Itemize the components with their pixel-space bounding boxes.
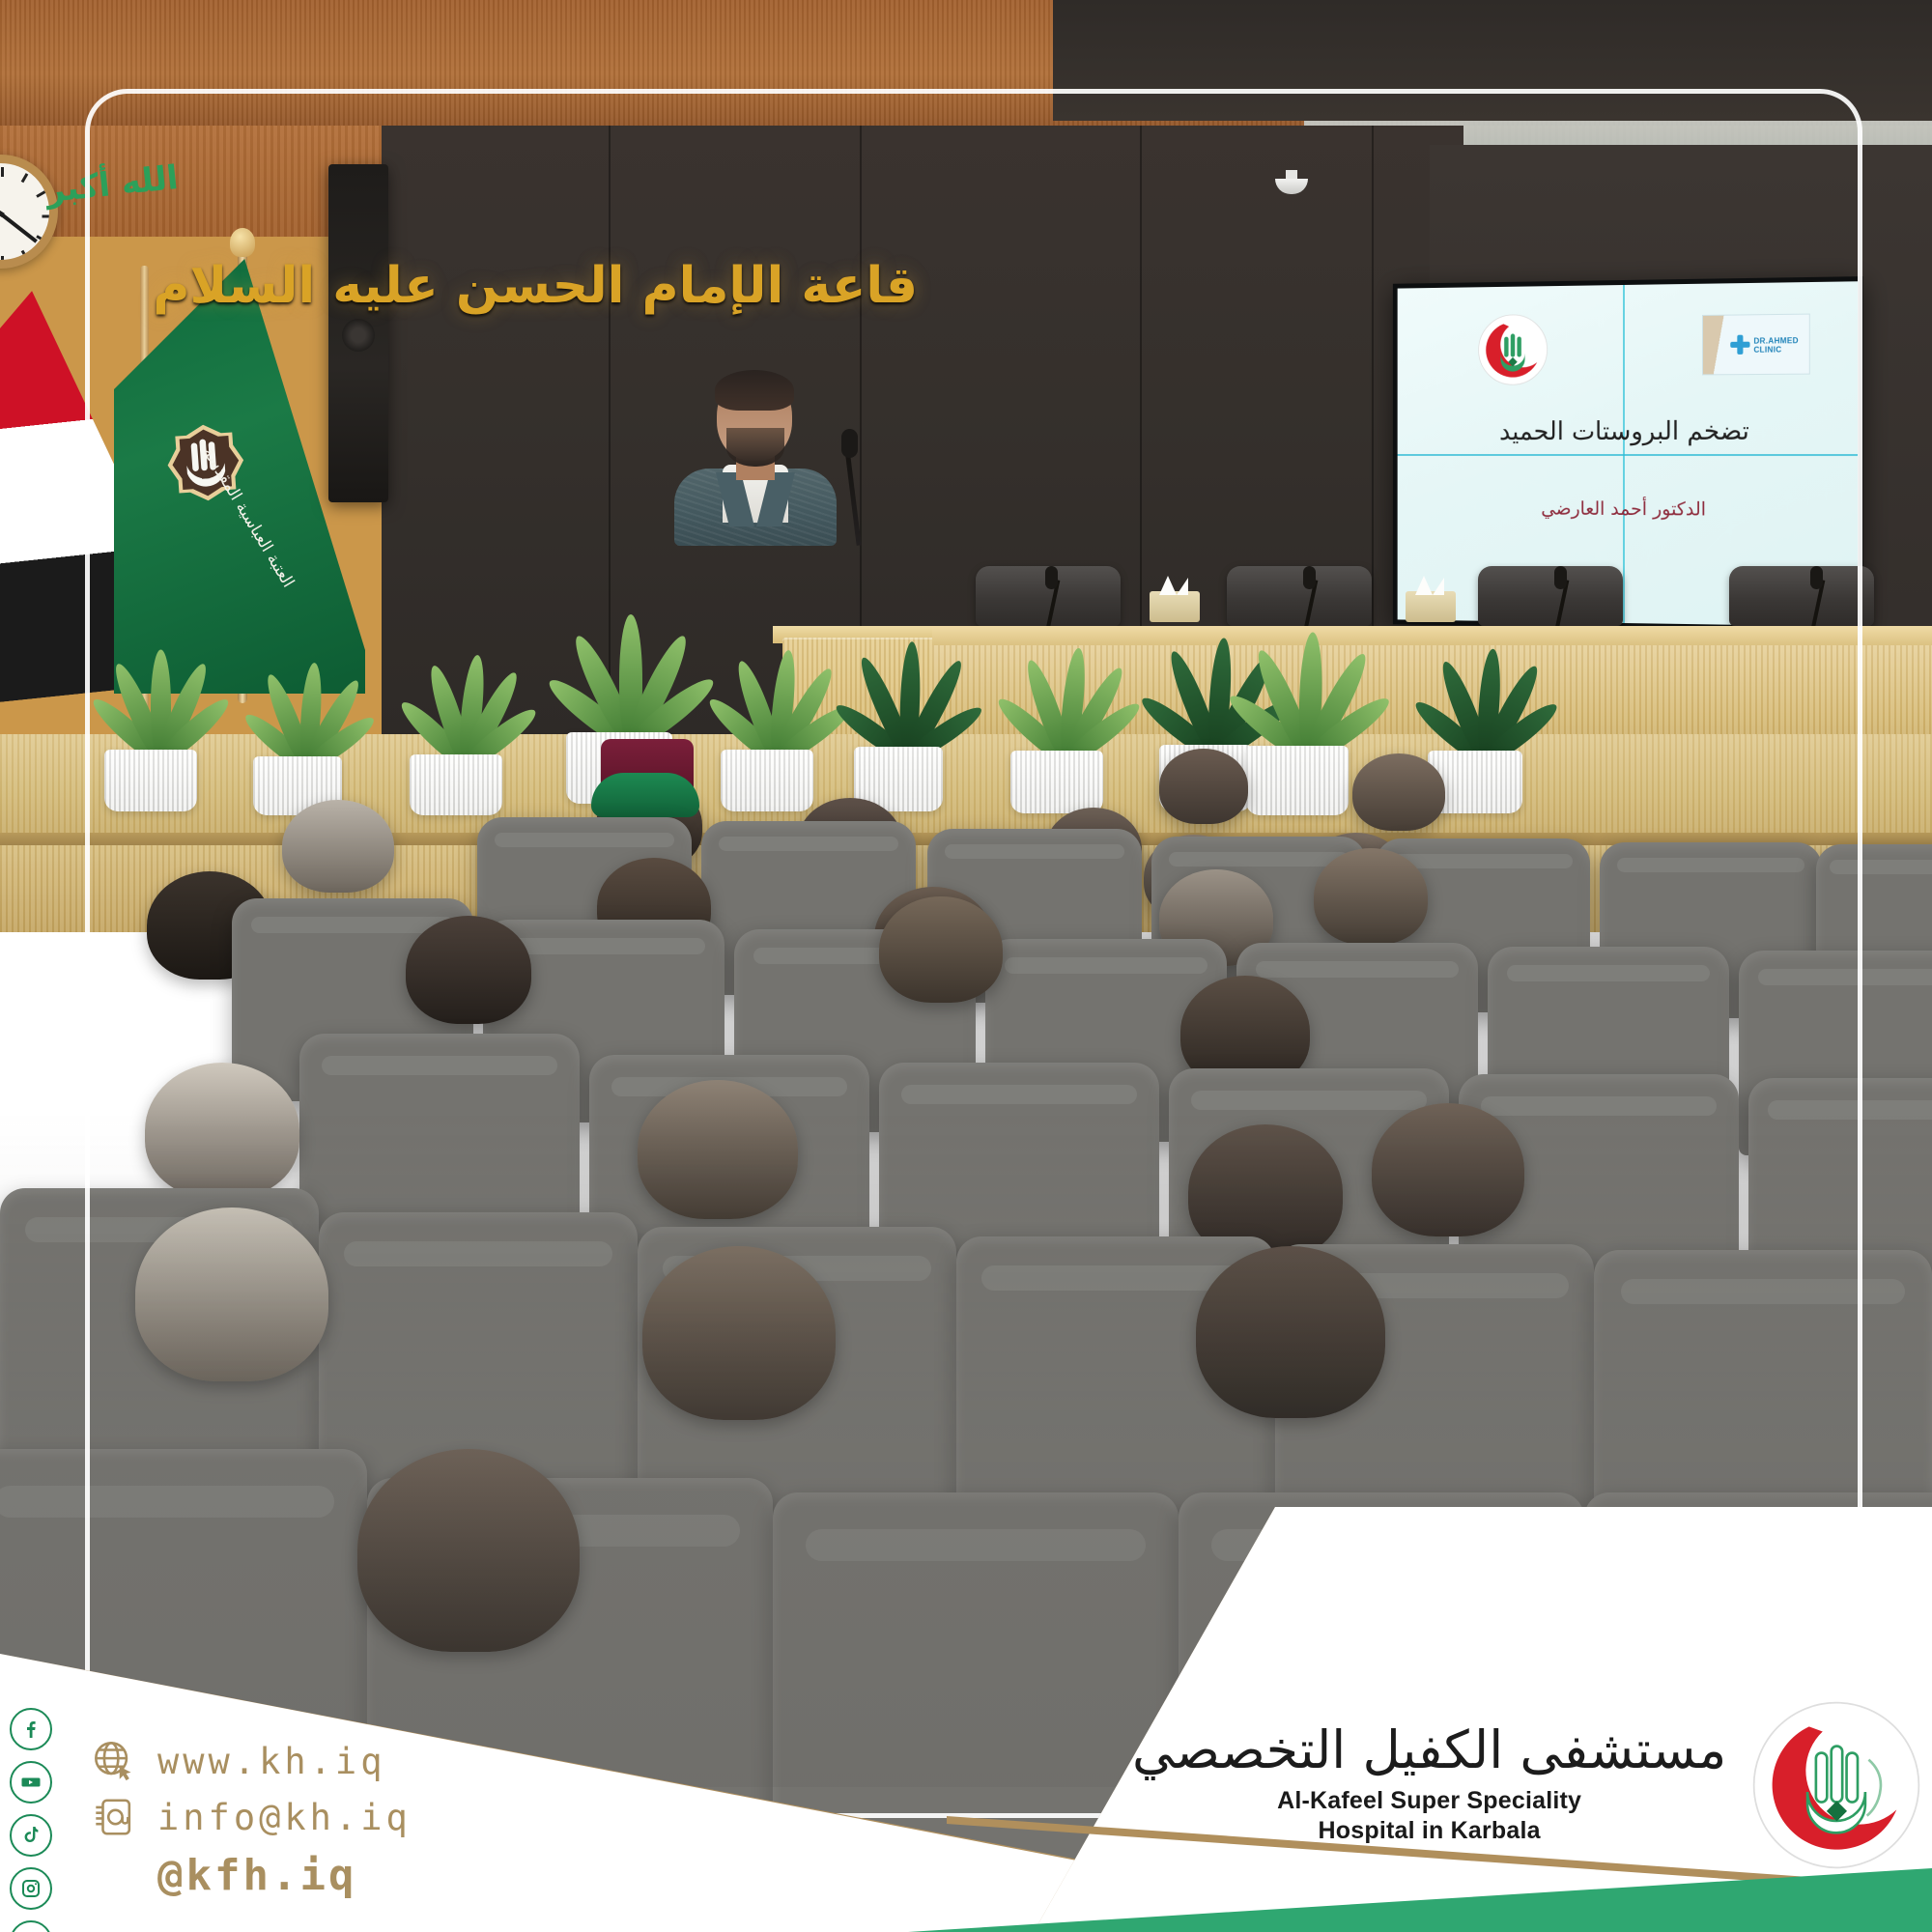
poster-root: الله أكبر العتبة العباسية المقدسة قاعة ا… (0, 0, 1932, 1932)
potted-plant (1246, 665, 1349, 815)
audience-head (1159, 749, 1248, 824)
audience-head (135, 1207, 328, 1381)
potted-plant (721, 676, 813, 811)
audience-head (282, 800, 394, 893)
potted-plant (253, 688, 342, 815)
hospital-logo-icon (1751, 1700, 1921, 1870)
slide-presenter: الدكتور أحمد العارضي (1398, 497, 1859, 521)
audience-head (145, 1063, 299, 1198)
audience-turban (591, 773, 699, 817)
medical-cross-icon (1730, 334, 1749, 354)
instagram-icon[interactable] (10, 1867, 52, 1910)
address-book-icon (92, 1795, 136, 1839)
panel-chair (1227, 566, 1372, 626)
microphone-head-icon (841, 429, 858, 458)
panel-chair (1729, 566, 1874, 626)
microphone-head-icon (1554, 566, 1567, 589)
website-text: www.kh.iq (157, 1741, 385, 1782)
slide-hospital-logo-icon (1478, 313, 1549, 386)
social-links-column (10, 1708, 66, 1932)
audience-head (357, 1449, 580, 1652)
microphone-head-icon (1045, 566, 1058, 589)
ceiling-dark-strip (1053, 0, 1932, 121)
tissue-box (1406, 591, 1456, 622)
hospital-name-english-line2: Hospital in Karbala (1132, 1816, 1726, 1846)
panel-chair (1478, 566, 1623, 626)
potted-plant (104, 676, 197, 811)
slide-clinic-thumbnail: DR.AHMED CLINIC (1702, 313, 1810, 375)
flag-finial (230, 228, 255, 257)
audience-head (1314, 848, 1428, 945)
slide-title: تضخم البروستات الحميد (1398, 416, 1859, 446)
x-twitter-icon[interactable] (10, 1920, 52, 1932)
audience-head (642, 1246, 836, 1420)
audience-head (879, 896, 1003, 1003)
facebook-icon[interactable] (10, 1708, 52, 1750)
speaker-person (667, 372, 840, 541)
hospital-brand-lockup: مستشفى الكفيل التخصصي Al-Kafeel Super Sp… (1132, 1700, 1808, 1870)
hospital-name-arabic: مستشفى الكفيل التخصصي (1132, 1724, 1726, 1776)
hall-name-calligraphy: قاعة الإمام الحسن عليه السلام (512, 261, 918, 357)
audience-head (638, 1080, 798, 1219)
social-handle-text: @kfh.iq (157, 1851, 356, 1900)
contact-info-block: www.kh.iq info@kh.iq @kfh.iq (92, 1739, 594, 1912)
tiktok-icon[interactable] (10, 1814, 52, 1857)
email-text: info@kh.iq (157, 1797, 412, 1838)
social-handle-row[interactable]: @kfh.iq (157, 1851, 594, 1900)
audience-head (1352, 753, 1445, 831)
clinic-label: DR.AHMED CLINIC (1753, 336, 1808, 355)
microphone-head-icon (1303, 566, 1316, 589)
audience-head (1372, 1103, 1524, 1236)
tissue-box (1150, 591, 1200, 622)
potted-plant (854, 670, 943, 811)
audience-head (1196, 1246, 1385, 1418)
hospital-name-english-line1: Al-Kafeel Super Speciality (1132, 1786, 1726, 1816)
email-row[interactable]: info@kh.iq (92, 1795, 594, 1839)
audience-head (406, 916, 531, 1024)
youtube-icon[interactable] (10, 1761, 52, 1804)
microphone-head-icon (1810, 566, 1823, 589)
potted-plant (410, 682, 502, 815)
potted-plant (1010, 676, 1103, 813)
globe-icon (92, 1739, 136, 1783)
wall-speaker-box (328, 164, 388, 502)
website-row[interactable]: www.kh.iq (92, 1739, 594, 1783)
